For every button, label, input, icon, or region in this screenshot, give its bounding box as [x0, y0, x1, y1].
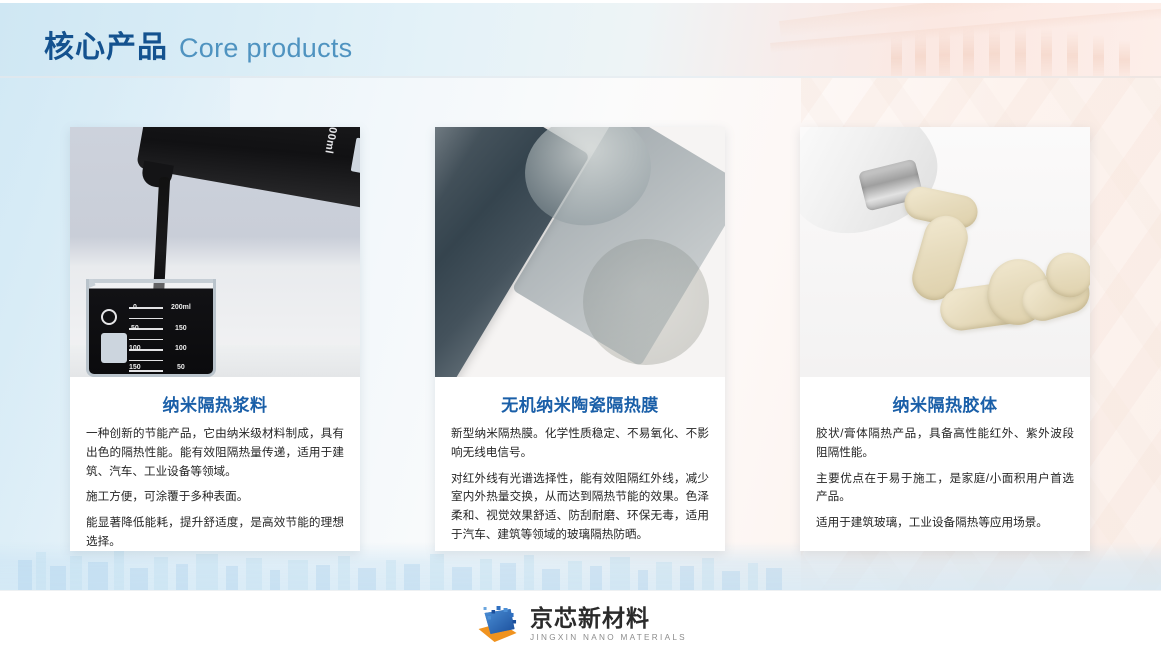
- product-image-3: [800, 127, 1090, 377]
- page-title-cn: 核心产品: [44, 22, 168, 66]
- page-title-en: Core products: [179, 33, 352, 64]
- card-paragraph: 能显著降低能耗，提升舒适度，是高效节能的理想选择。: [86, 514, 344, 552]
- card-paragraph: 主要优点在于易于施工，是家庭/小面积用户首选产品。: [816, 470, 1074, 508]
- card-paragraph: 施工方便，可涂覆于多种表面。: [86, 488, 344, 507]
- card-paragraph: 适用于建筑玻璃，工业设备隔热等应用场景。: [816, 514, 1074, 533]
- slide-footer: 京芯新材料 JINGXIN NANO MATERIALS: [0, 590, 1161, 656]
- card-title-1: 纳米隔热浆料: [86, 391, 344, 416]
- product-image-2: [435, 127, 725, 377]
- company-logo[interactable]: 京芯新材料 JINGXIN NANO MATERIALS: [474, 605, 687, 645]
- product-card-3[interactable]: 纳米隔热胶体 胶状/膏体隔热产品，具备高性能红外、紫外波段阻隔性能。 主要优点在…: [800, 127, 1090, 551]
- logo-text-cn: 京芯新材料: [530, 607, 687, 630]
- card-title-3: 纳米隔热胶体: [816, 391, 1074, 416]
- slide-header: 核心产品 Core products: [0, 3, 1161, 76]
- product-card-1[interactable]: 500ml 0 50 100 150 200ml 150: [70, 127, 360, 551]
- card-body-1: 纳米隔热浆料 一种创新的节能产品，它由纳米级材料制成，具有出色的隔热性能。能有效…: [70, 377, 360, 562]
- card-body-3: 纳米隔热胶体 胶状/膏体隔热产品，具备高性能红外、紫外波段阻隔性能。 主要优点在…: [800, 377, 1090, 543]
- card-body-2: 无机纳米陶瓷隔热膜 新型纳米隔热膜。化学性质稳定、不易氧化、不影响无线电信号。 …: [435, 377, 725, 555]
- slide-canvas: 核心产品 Core products: [0, 0, 1161, 656]
- card-title-2: 无机纳米陶瓷隔热膜: [451, 391, 709, 416]
- beaker-shape: 0 50 100 150 200ml 150 100 50: [86, 279, 216, 377]
- card-paragraph: 胶状/膏体隔热产品，具备高性能红外、紫外波段阻隔性能。: [816, 425, 1074, 463]
- jingxin-pixel-parallelogram-logo-icon: [474, 605, 520, 645]
- card-paragraph: 一种创新的节能产品，它由纳米级材料制成，具有出色的隔热性能。能有效阻隔热量传递，…: [86, 425, 344, 481]
- page-title: 核心产品 Core products: [44, 22, 352, 66]
- product-image-1: 500ml 0 50 100 150 200ml 150: [70, 127, 360, 377]
- logo-text-en: JINGXIN NANO MATERIALS: [530, 634, 687, 642]
- product-card-2[interactable]: 无机纳米陶瓷隔热膜 新型纳米隔热膜。化学性质稳定、不易氧化、不影响无线电信号。 …: [435, 127, 725, 551]
- card-paragraph: 对红外线有光谱选择性，能有效阻隔红外线，减少室内外热量交换，从而达到隔热节能的效…: [451, 470, 709, 545]
- classical-columns-watermark-icon: [741, 3, 1161, 76]
- card-paragraph: 新型纳米隔热膜。化学性质稳定、不易氧化、不影响无线电信号。: [451, 425, 709, 463]
